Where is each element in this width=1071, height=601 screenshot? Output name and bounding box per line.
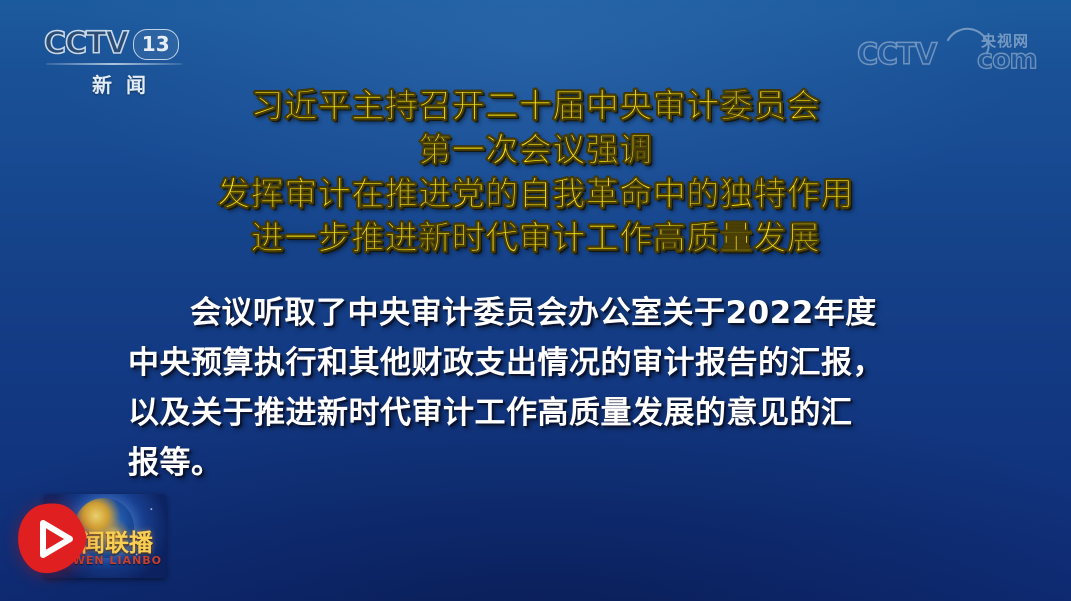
- cctv-com-watermark: CCTV 央视网 com: [857, 26, 1047, 80]
- headline-line-1: 习近平主持召开二十届中央审计委员会: [0, 84, 1071, 128]
- cctv-wordmark: CCTV: [44, 29, 128, 59]
- headline-line-2: 第一次会议强调: [0, 128, 1071, 172]
- body-copy-block: 会议听取了中央审计委员会办公室关于2022年度 中央预算执行和其他财政支出情况的…: [128, 288, 946, 488]
- channel-number-badge: 13: [133, 29, 179, 60]
- headline-line-4: 进一步推进新时代审计工作高质量发展: [0, 216, 1071, 260]
- headline-block: 习近平主持召开二十届中央审计委员会 第一次会议强调 发挥审计在推进党的自我革命中…: [0, 84, 1071, 260]
- play-button[interactable]: [14, 500, 92, 578]
- cctv13-channel-logo: CCTV 13 新闻: [44, 27, 194, 89]
- body-line-2: 中央预算执行和其他财政支出情况的审计报告的汇报，: [128, 338, 946, 388]
- cctv13-logo-row: CCTV 13: [44, 27, 194, 61]
- headline-line-3: 发挥审计在推进党的自我革命中的独特作用: [0, 172, 1071, 216]
- watermark-cctv-text: CCTV: [857, 40, 936, 69]
- body-line-4: 报等。: [128, 438, 946, 488]
- logo-underline: [46, 63, 182, 65]
- channel-number: 13: [142, 34, 170, 54]
- play-icon[interactable]: [14, 500, 92, 578]
- body-line-3: 以及关于推进新时代审计工作高质量发展的意见的汇: [128, 388, 946, 438]
- body-line-1: 会议听取了中央审计委员会办公室关于2022年度: [128, 288, 946, 338]
- watermark-com-text: com: [977, 46, 1037, 73]
- broadcast-news-frame: CCTV 13 新闻 CCTV 央视网 com 习近平主持召开二十届中央审计委员…: [0, 0, 1071, 601]
